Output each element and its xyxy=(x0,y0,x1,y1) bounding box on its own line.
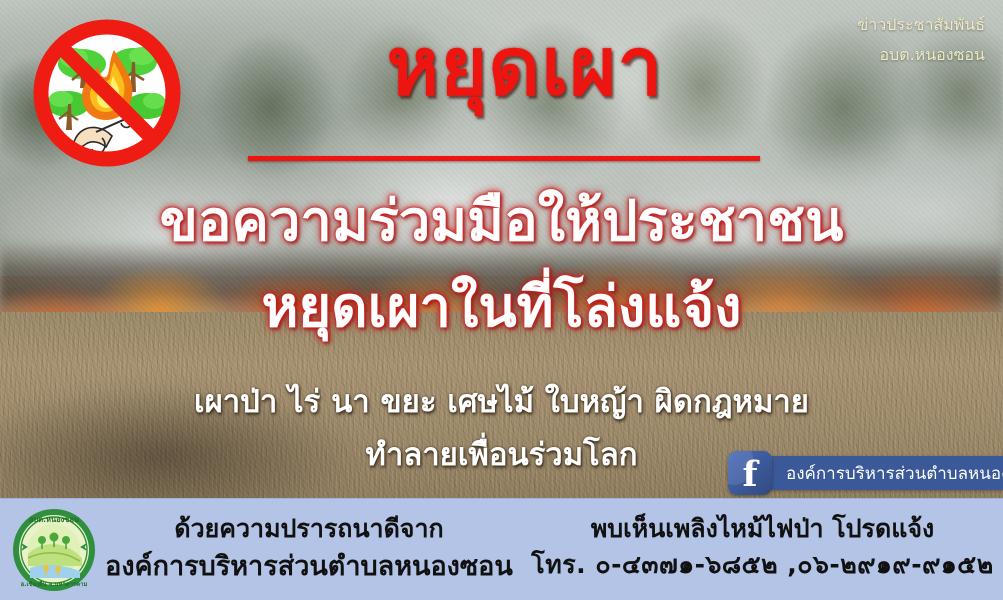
facebook-page-name[interactable]: องค์การบริหารส่วนตำบลหนองซอน xyxy=(770,456,1003,490)
footer-right-line-1: พบเห็นเพลิงไหม้ไฟป่า โปรดแจ้ง xyxy=(530,511,995,547)
poster-root: ข่าวประชาสัมพันธ์ อบต.หนองซอน หยุดเผา ขอ… xyxy=(0,0,1003,600)
no-burning-sign-icon xyxy=(30,14,184,172)
caption-line-2: อบต.หนองซอน xyxy=(857,40,985,70)
footer-left-line-2: องค์การบริหารส่วนตำบลหนองซอน xyxy=(104,547,514,586)
caption-line-1: ข่าวประชาสัมพันธ์ xyxy=(857,10,985,40)
caption-block: ข่าวประชาสัมพันธ์ อบต.หนองซอน xyxy=(857,10,985,71)
footer-right-block: พบเห็นเพลิงไหม้ไฟป่า โปรดแจ้ง โทร. ๐-๔๓๗… xyxy=(530,511,995,584)
subheadline-line-1: ขอความร่วมมือให้ประชาชน xyxy=(0,192,1003,251)
subheadline-line-2: หยุดเผาในที่โล่งแจ้ง xyxy=(0,278,1003,337)
page-title: หยุดเผา xyxy=(330,26,720,108)
facebook-glyph: f xyxy=(728,455,772,495)
red-divider-rule xyxy=(248,156,760,161)
facebook-badge[interactable]: f องค์การบริหารส่วนตำบลหนองซอน xyxy=(728,451,1003,495)
footer-left-line-1: ด้วยความปรารถนาดีจาก xyxy=(104,511,514,547)
footer-bar: อบต.หนองซอน อ.เชียงยืน จ.มหาสารคาม ด้วยค… xyxy=(0,498,1003,600)
footer-phone-numbers: โทร. ๐-๔๓๗๑-๖๘๕๒ ,๐๖-๒๙๑๙-๙๑๕๒ xyxy=(530,547,995,583)
svg-text:อบต.หนองซอน: อบต.หนองซอน xyxy=(29,515,80,524)
body-line-1: เผาป่า ไร่ นา ขยะ เศษไม้ ใบหญ้า ผิดกฎหมา… xyxy=(0,385,1003,419)
svg-text:อ.เชียงยืน จ.มหาสารคาม: อ.เชียงยืน จ.มหาสารคาม xyxy=(21,580,88,588)
facebook-icon[interactable]: f xyxy=(728,451,772,495)
footer-left-block: ด้วยความปรารถนาดีจาก องค์การบริหารส่วนตำ… xyxy=(104,511,514,586)
organization-seal-logo: อบต.หนองซอน อ.เชียงยืน จ.มหาสารคาม xyxy=(12,508,96,592)
